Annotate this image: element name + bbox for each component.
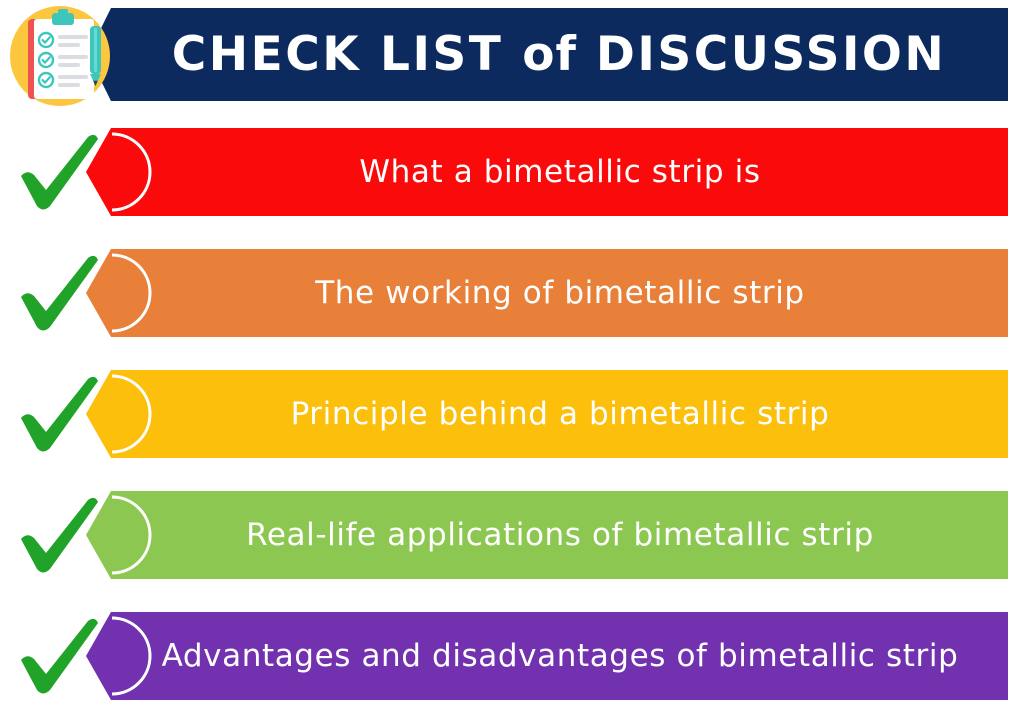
checklist-row-2[interactable]: The working of bimetallic strip [0, 249, 1024, 337]
page-title-tail: DISCUSSION [596, 27, 946, 82]
checklist-item-label: Real-life applications of bimetallic str… [202, 520, 892, 551]
clipboard-checklist-icon [6, 4, 118, 108]
checklist-bar-2[interactable]: The working of bimetallic strip [86, 249, 1008, 337]
page-title-connector: of [522, 27, 577, 82]
header-row: CHECK LIST of DISCUSSION [0, 4, 1024, 104]
checklist-item-label: The working of bimetallic strip [271, 278, 822, 309]
checklist-row-5[interactable]: Advantages and disadvantages of bimetall… [0, 612, 1024, 700]
checklist-item-label: Principle behind a bimetallic strip [247, 399, 848, 430]
page-title-main: CHECK LIST [172, 27, 504, 82]
page-title: CHECK LIST of DISCUSSION [132, 31, 964, 78]
checklist-row-1[interactable]: What a bimetallic strip is [0, 128, 1024, 216]
checklist-item-label: What a bimetallic strip is [315, 157, 778, 188]
header-banner: CHECK LIST of DISCUSSION [88, 8, 1008, 101]
icon-pencil [90, 26, 101, 86]
checklist-bar-4[interactable]: Real-life applications of bimetallic str… [86, 491, 1008, 579]
checklist-bar-1[interactable]: What a bimetallic strip is [86, 128, 1008, 216]
checklist-row-4[interactable]: Real-life applications of bimetallic str… [0, 491, 1024, 579]
checklist-bar-5[interactable]: Advantages and disadvantages of bimetall… [86, 612, 1008, 700]
checklist-row-3[interactable]: Principle behind a bimetallic strip [0, 370, 1024, 458]
icon-clip-top [58, 9, 68, 16]
checklist-bar-3[interactable]: Principle behind a bimetallic strip [86, 370, 1008, 458]
checklist-slide: CHECK LIST of DISCUSSION [0, 0, 1024, 711]
checklist-item-label: Advantages and disadvantages of bimetall… [118, 641, 977, 672]
